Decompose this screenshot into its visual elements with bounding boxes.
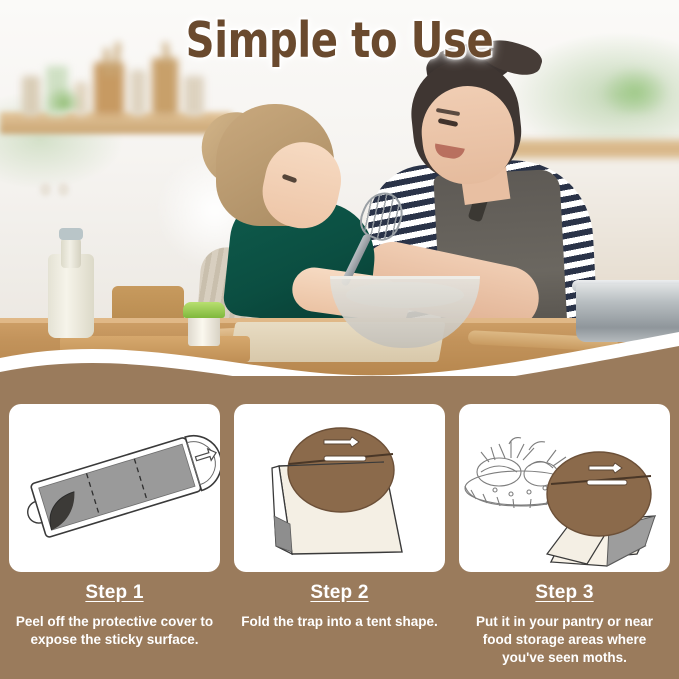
step-3-caption: Step 3 Put it in your pantry or near foo… [459,582,670,668]
step-2-caption: Step 2 Fold the trap into a tent shape. [234,582,445,668]
step-1-caption: Step 1 Peel off the protective cover to … [9,582,220,668]
infographic-page: Simple to Use [0,0,679,679]
cabinet-knob [58,183,69,196]
page-title: Simple to Use [61,12,618,69]
step-2-title: Step 2 [234,582,445,604]
step-3-card [459,404,670,572]
step-1-card [9,404,220,572]
pantry-placement-illustration [459,404,670,572]
milk-bottle [48,228,94,338]
step-2-description: Fold the trap into a tent shape. [234,613,445,631]
step-1-description: Peel off the protective cover to expose … [9,613,220,649]
potted-plant-left [46,86,82,110]
step-3-title: Step 3 [459,582,670,604]
step-captions: Step 1 Peel off the protective cover to … [0,582,679,668]
step-3-description: Put it in your pantry or near food stora… [459,613,670,668]
step-cards [0,404,679,572]
step-1-title: Step 1 [9,582,220,604]
tent-trap-illustration [234,404,445,572]
flat-trap-illustration [9,404,220,572]
step-2-card [234,404,445,572]
cabinet-knob [40,183,51,196]
